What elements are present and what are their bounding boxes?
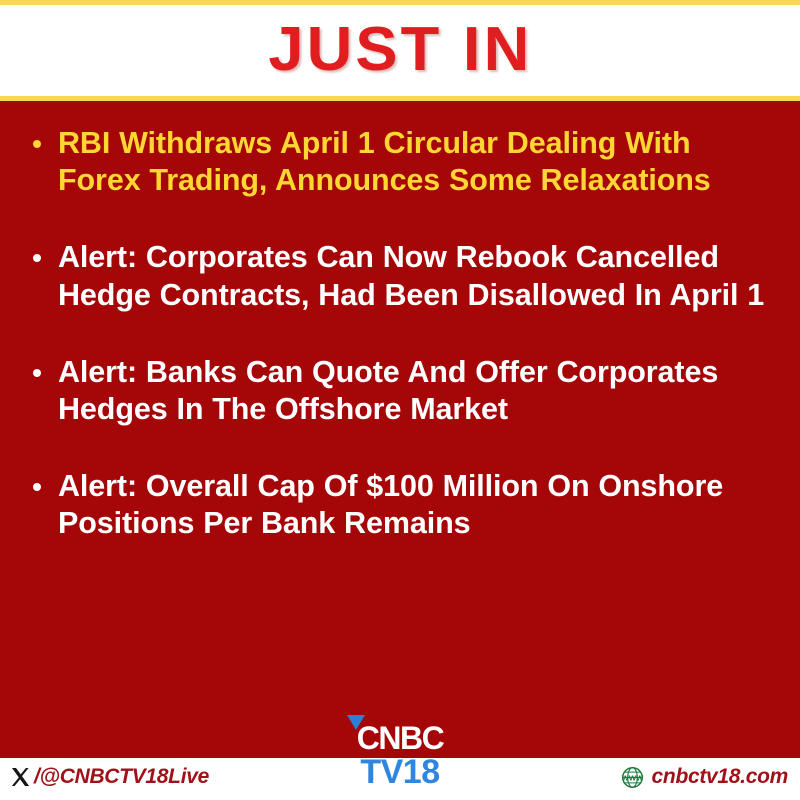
social-handle-group[interactable]: /@CNBCTV18Live <box>10 765 209 789</box>
logo-tv18-text: TV18 <box>320 755 480 789</box>
svg-text:WWW: WWW <box>621 773 643 782</box>
headline-list: RBI Withdraws April 1 Circular Dealing W… <box>22 125 778 543</box>
list-item: Alert: Overall Cap Of $100 Million On On… <box>22 468 778 542</box>
social-handle-text: /@CNBCTV18Live <box>34 765 209 789</box>
page-title: JUST IN <box>268 19 532 81</box>
list-item: Alert: Banks Can Quote And Offer Corpora… <box>22 354 778 428</box>
peacock-mark-icon <box>347 715 365 730</box>
list-item: RBI Withdraws April 1 Circular Dealing W… <box>22 125 778 199</box>
list-item: Alert: Corporates Can Now Rebook Cancell… <box>22 239 778 313</box>
headline-panel: RBI Withdraws April 1 Circular Dealing W… <box>0 101 800 758</box>
website-text: cnbctv18.com <box>652 765 788 789</box>
news-card: JUST IN RBI Withdraws April 1 Circular D… <box>0 0 800 800</box>
header-band: JUST IN <box>0 5 800 96</box>
cnbc-tv18-logo: CNBC TV18 <box>320 722 480 789</box>
logo-cnbc-text: CNBC <box>357 722 443 754</box>
website-group[interactable]: WWW cnbctv18.com <box>621 765 788 789</box>
x-twitter-icon <box>10 766 32 788</box>
www-globe-icon: WWW <box>621 766 644 789</box>
